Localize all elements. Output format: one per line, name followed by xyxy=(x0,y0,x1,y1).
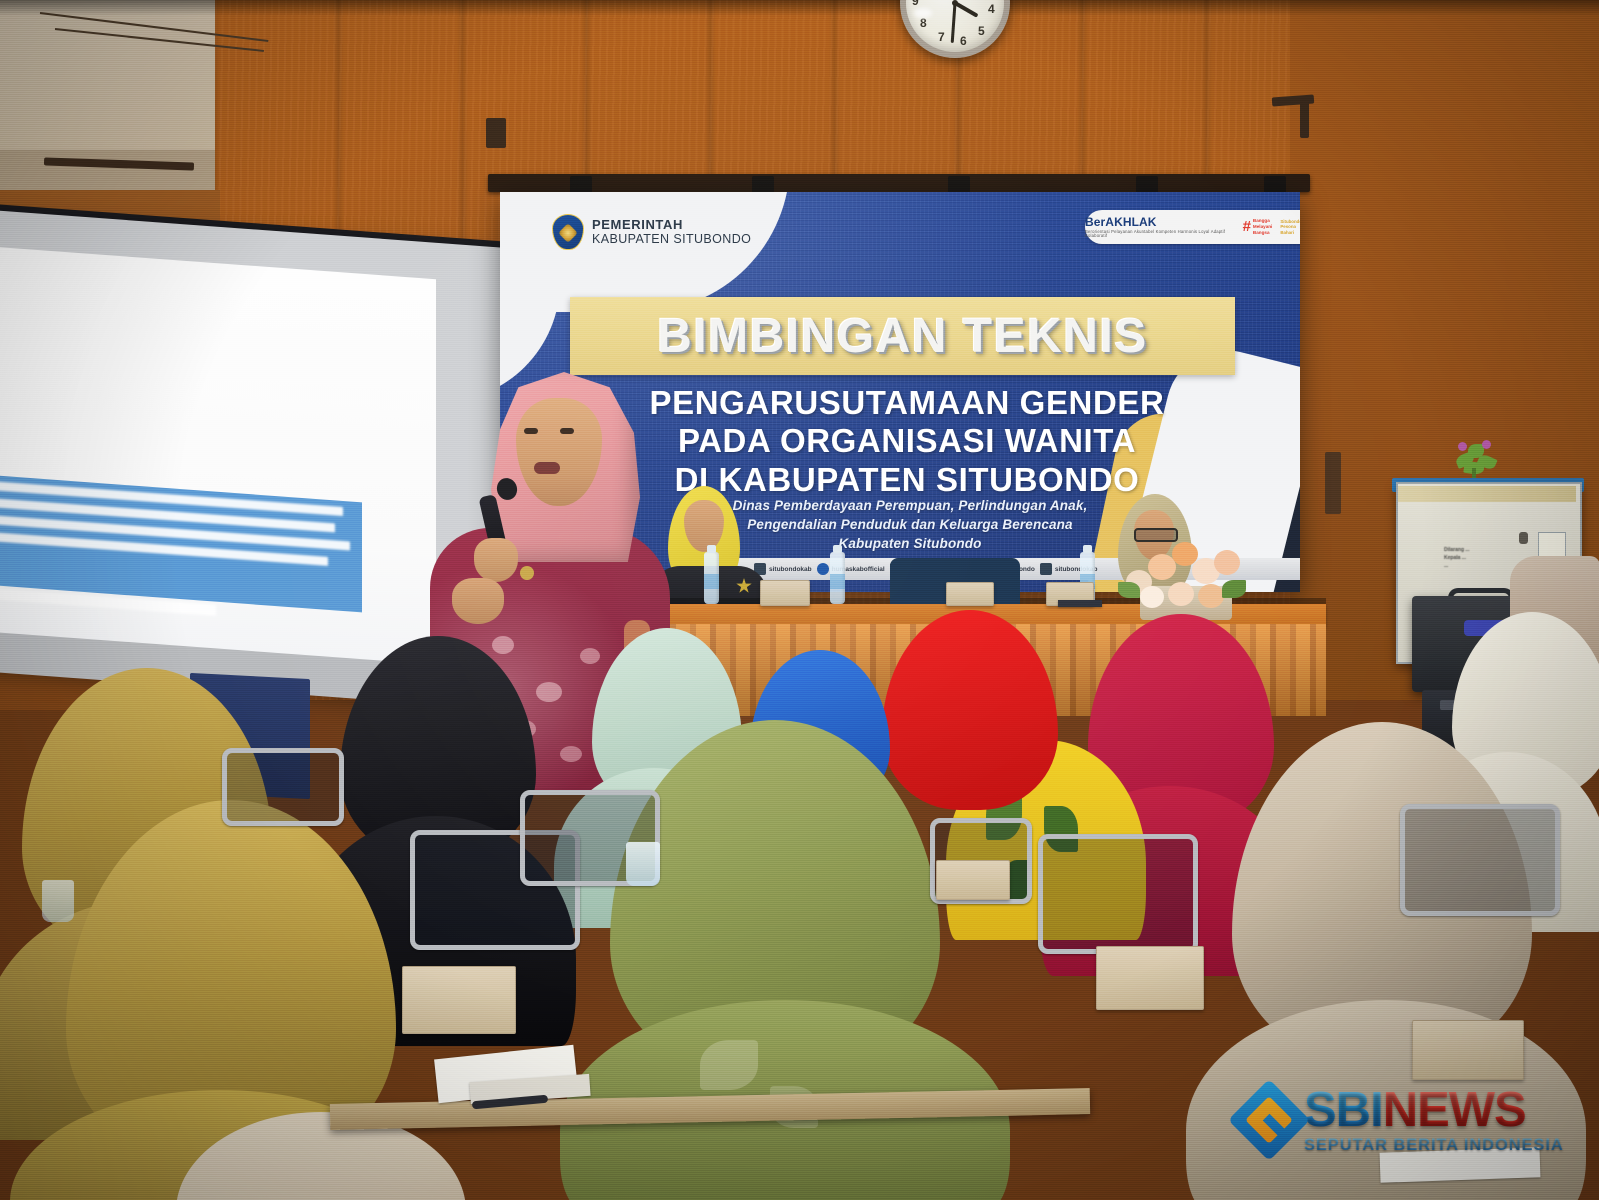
flower-foliage xyxy=(1118,582,1140,598)
berakhlak-label: BerAKHLAK xyxy=(1085,215,1157,229)
social-handle: situbondokab xyxy=(769,566,812,573)
clock-numeral-9: 9 xyxy=(912,0,919,8)
flower-bloom xyxy=(1140,586,1164,608)
water-bottle xyxy=(830,552,845,604)
banner-subtitle-line-3: DI KABUPATEN SITUBONDO xyxy=(572,461,1242,499)
berakhlak-logo: BerAKHLAK Berorientasi Pelayanan Akuntab… xyxy=(1085,216,1235,238)
wall-bracket-right-2 xyxy=(1300,102,1309,138)
clock-numeral-7: 7 xyxy=(938,30,945,44)
government-logo-text: PEMERINTAH KABUPATEN SITUBONDO xyxy=(592,218,751,247)
clock-glare xyxy=(914,8,932,18)
kebaya-embroidery xyxy=(536,682,562,702)
document-on-head-table xyxy=(1058,600,1102,607)
plastic-cup xyxy=(626,842,660,886)
cabinet-pictogram-icon xyxy=(1538,532,1566,558)
clock-minute-hand xyxy=(951,3,957,43)
audience-chair xyxy=(1038,834,1198,954)
speaker-eye-right xyxy=(560,428,574,434)
flower-bloom xyxy=(1168,582,1194,606)
plant-flower xyxy=(1458,442,1467,451)
daerah-line-1: Situbondo xyxy=(1280,219,1300,224)
bangga-text: Bangga Melayani Bangsa xyxy=(1253,218,1272,235)
watermark-brand-sbi: SBI xyxy=(1304,1086,1383,1135)
situbondo-tagline: Situbondo Pesona Bahari xyxy=(1280,219,1300,236)
ceiling-shadow xyxy=(0,0,1599,16)
plastic-cup xyxy=(42,880,74,922)
facebook-icon xyxy=(817,563,829,575)
speaker-hand-lower xyxy=(452,578,504,624)
bottle-label xyxy=(704,574,719,589)
bangga-line-3: Bangsa xyxy=(1253,230,1270,235)
cabinet-tape-strip xyxy=(1398,486,1576,502)
clock-numeral-4: 4 xyxy=(988,2,995,16)
speaker-wristwatch xyxy=(520,566,534,580)
kebaya-embroidery xyxy=(492,636,514,654)
snack-box xyxy=(402,966,516,1034)
speaker-mouth xyxy=(534,462,560,474)
banner-subtitle-line-1: PENGARUSUTAMAAN GENDER xyxy=(572,384,1242,422)
berakhlak-tagline: Berorientasi Pelayanan Akuntabel Kompete… xyxy=(1085,230,1235,238)
wall-panel-left-lower xyxy=(0,150,228,190)
flower-foliage xyxy=(1222,580,1246,598)
social-account: situbondokab xyxy=(754,563,812,575)
core-values-logo-pill: BerAKHLAK Berorientasi Pelayanan Akuntab… xyxy=(1085,210,1300,244)
banner-subtitle: PENGARUSUTAMAAN GENDER PADA ORGANISASI W… xyxy=(572,384,1242,499)
government-logo-lockup: PEMERINTAH KABUPATEN SITUBONDO xyxy=(552,214,751,250)
situbondo-regency-emblem-icon xyxy=(552,214,584,250)
bangga-line-2: Melayani xyxy=(1253,224,1272,229)
banner-title-plate: BIMBINGAN TEKNIS xyxy=(570,297,1235,375)
hash-icon: # xyxy=(1243,219,1251,234)
flower-bloom xyxy=(1214,550,1240,575)
banner-mounting-rail xyxy=(488,174,1310,192)
watermark-tagline: SEPUTAR BERITA INDONESIA xyxy=(1304,1137,1564,1154)
sbi-diamond-logo-icon xyxy=(1228,1079,1310,1161)
clock-numeral-6: 6 xyxy=(960,34,967,48)
audience-chair xyxy=(222,748,344,826)
watermark-brand: SBINEWS xyxy=(1304,1086,1564,1135)
wall-bracket-mid xyxy=(486,118,506,148)
bottle-label xyxy=(830,574,845,589)
event-photo-scene: 9 8 7 6 5 4 xyxy=(0,0,1599,1200)
snack-box xyxy=(760,580,810,606)
clock-center-pin xyxy=(952,0,958,6)
social-account: humaskabofficial xyxy=(817,563,885,575)
sbinews-watermark: SBINEWS SEPUTAR BERITA INDONESIA xyxy=(1240,1078,1570,1162)
water-bottle xyxy=(704,552,719,604)
snack-box xyxy=(936,860,1010,900)
watermark-brand-news: NEWS xyxy=(1383,1086,1526,1135)
flower-bouquet xyxy=(1116,528,1256,616)
snack-box xyxy=(946,582,994,606)
snack-box xyxy=(1412,1020,1524,1080)
plant-flower xyxy=(1482,440,1491,449)
banner-title: BIMBINGAN TEKNIS xyxy=(657,309,1148,364)
situbondo-tourism-logo: Situbondo Pesona Bahari ✳ xyxy=(1280,219,1300,236)
watermark-wordmark: SBINEWS SEPUTAR BERITA INDONESIA xyxy=(1304,1086,1564,1154)
banner-subtitle-line-2: PADA ORGANISASI WANITA xyxy=(572,422,1242,460)
kebaya-embroidery xyxy=(560,746,582,762)
kebaya-embroidery xyxy=(580,648,600,664)
snack-box xyxy=(1096,946,1204,1010)
audience-chair xyxy=(1400,804,1560,916)
government-line-2: KABUPATEN SITUBONDO xyxy=(592,232,751,246)
daerah-line-2: Pesona Bahari xyxy=(1280,224,1296,235)
speaker-eye-left xyxy=(524,428,538,434)
twitter-icon xyxy=(1040,563,1052,575)
speaker-hand-upper xyxy=(474,538,518,582)
audience-outfit-embroidery xyxy=(700,1040,758,1090)
government-line-1: PEMERINTAH xyxy=(592,218,751,233)
clock-numeral-8: 8 xyxy=(920,16,927,30)
cabinet-knob-icon xyxy=(1519,532,1528,544)
wall-panel-left xyxy=(0,0,215,162)
flower-bloom xyxy=(1198,584,1224,608)
bangga-melayani-bangsa-logo: # Bangga Melayani Bangsa xyxy=(1243,218,1273,235)
clock-numeral-5: 5 xyxy=(978,24,985,38)
wall-bracket-far-right xyxy=(1325,452,1341,514)
bangga-line-1: Bangga xyxy=(1253,218,1270,223)
